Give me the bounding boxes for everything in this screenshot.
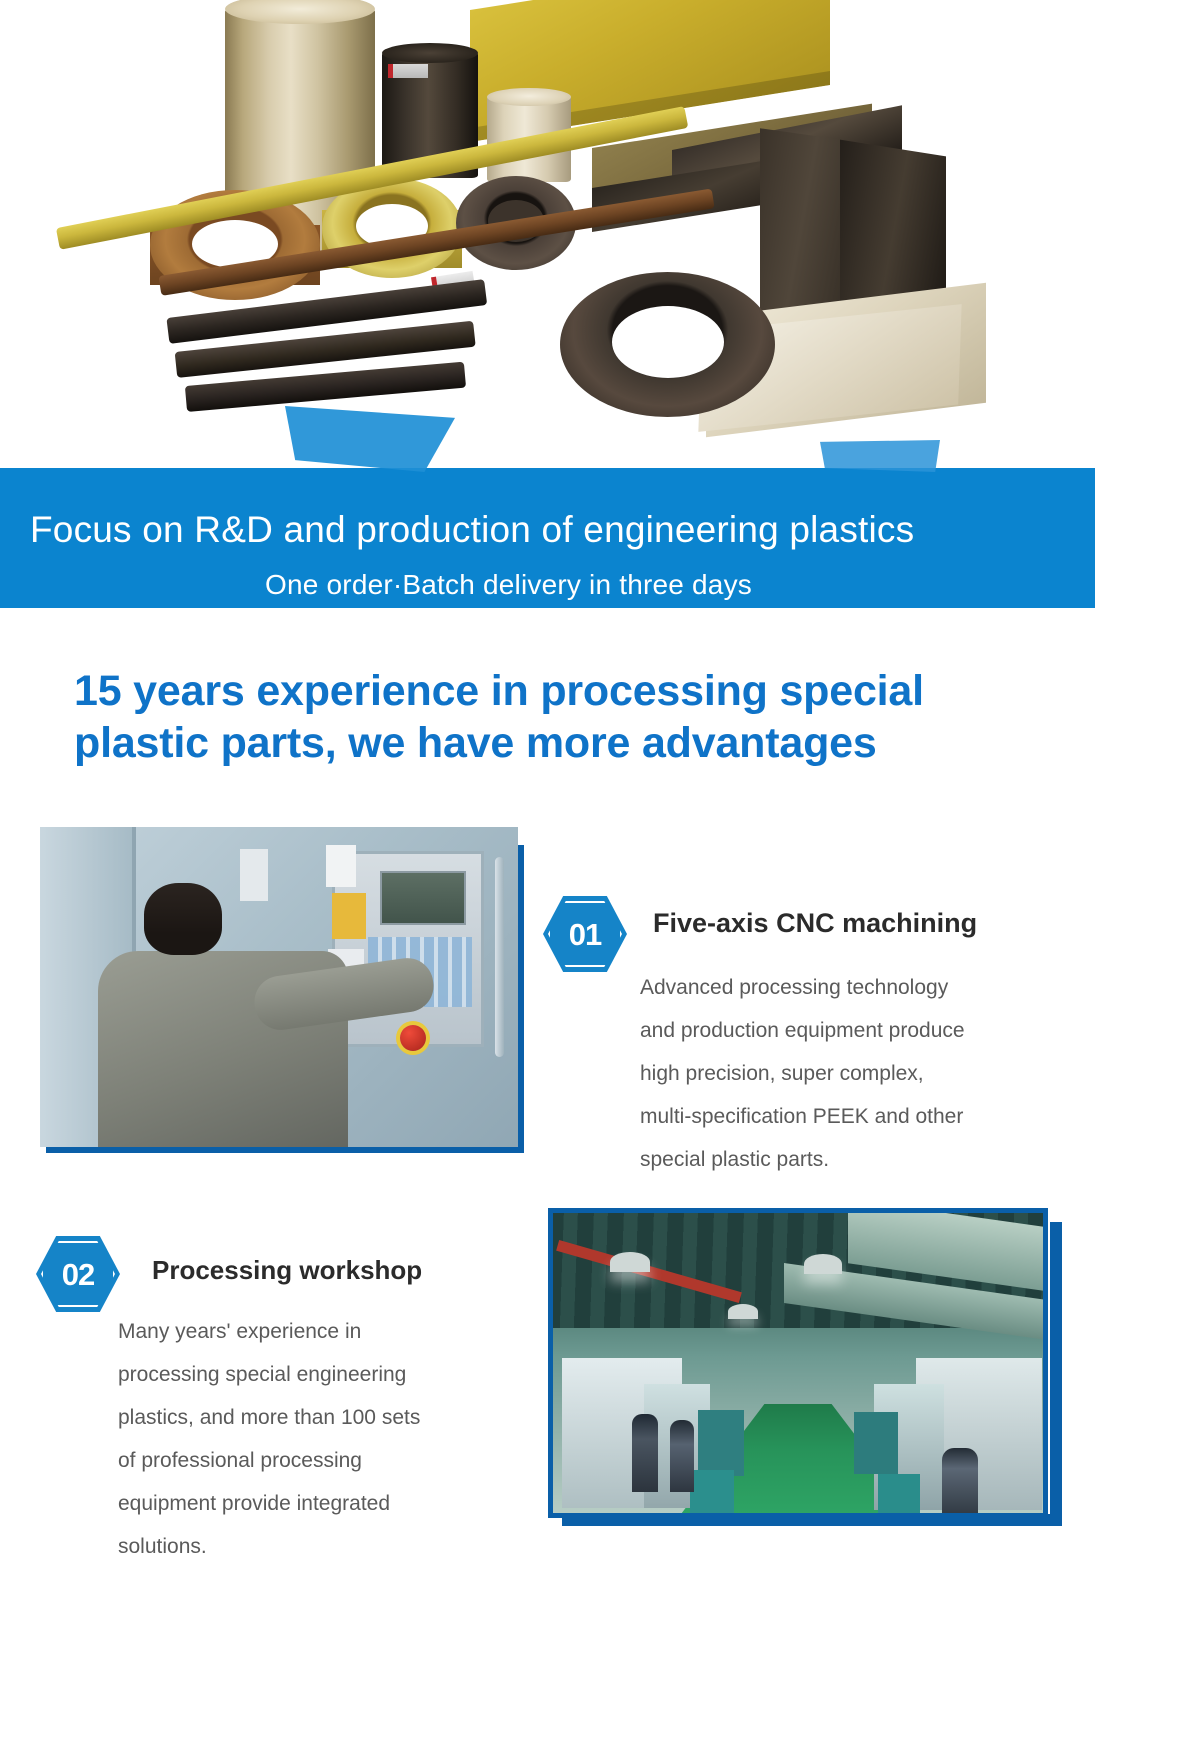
feature-2-body-line: solutions. [118,1525,538,1568]
feature-1-body: Advanced processing technology and produ… [640,966,1080,1181]
headline-line-1: 15 years experience in processing specia… [74,665,1054,717]
workshop-worker-2 [670,1420,694,1492]
machine-sticker-a [240,849,268,901]
workshop-cart-right [878,1474,920,1516]
machine-door-handle [495,857,504,1057]
product-detail-page: Focus on R&D and production of engineeri… [0,0,1200,1752]
feature-1-number-badge: 01 [543,896,627,972]
feature-2-accent-right [1050,1222,1062,1522]
workshop-worker-1 [632,1414,658,1492]
feature-1-body-line: and production equipment produce [640,1009,1080,1052]
feature-2-body-line: Many years' experience in [118,1310,538,1353]
product-label-sticker [388,64,428,78]
feature-2-image [548,1208,1048,1518]
feature-2-body-line: plastics, and more than 100 sets [118,1396,538,1439]
section-headline: 15 years experience in processing specia… [74,665,1054,770]
cnc-screen [380,871,466,925]
machine-sticker-b [326,845,356,887]
workshop-worker-3 [942,1448,978,1516]
workshop-panel-left [698,1410,744,1476]
hero-illustration [0,0,1200,470]
feature-1-number: 01 [569,919,601,950]
hero-product-image [0,0,1200,470]
feature-1-body-line: Advanced processing technology [640,966,1080,1009]
workshop-panel-right [854,1412,898,1474]
workshop-lamp-2 [804,1254,842,1274]
feature-1-title: Five-axis CNC machining [653,908,977,939]
feature-2-body: Many years' experience in processing spe… [118,1310,538,1568]
workshop-lamp-1 [610,1252,650,1272]
banner-secondary-slogan: One order·Batch delivery in three days [0,569,1095,601]
feature-1-body-line: multi-specification PEEK and other [640,1095,1080,1138]
feature-2-title: Processing workshop [152,1255,422,1286]
dark-ring-large [560,272,775,417]
banner-shard-decor-right [820,440,940,472]
operator-head [144,883,222,955]
slogan-banner: Focus on R&D and production of engineeri… [0,468,1095,608]
banner-primary-slogan: Focus on R&D and production of engineeri… [0,510,1095,551]
feature-2-number-badge: 02 [36,1236,120,1312]
feature-1-image [40,827,518,1147]
workshop-lamp-3 [728,1304,758,1319]
feature-2-number: 02 [62,1259,94,1290]
feature-2-body-line: of professional processing [118,1439,538,1482]
workshop-cart-left [690,1470,734,1514]
feature-1-body-line: high precision, super complex, [640,1052,1080,1095]
feature-1-body-line: special plastic parts. [640,1138,1080,1181]
emergency-stop-button [400,1025,426,1051]
feature-2-body-line: processing special engineering [118,1353,538,1396]
headline-line-2: plastic parts, we have more advantages [74,717,1054,769]
machine-warning-sticker [332,893,366,939]
feature-2-body-line: equipment provide integrated [118,1482,538,1525]
